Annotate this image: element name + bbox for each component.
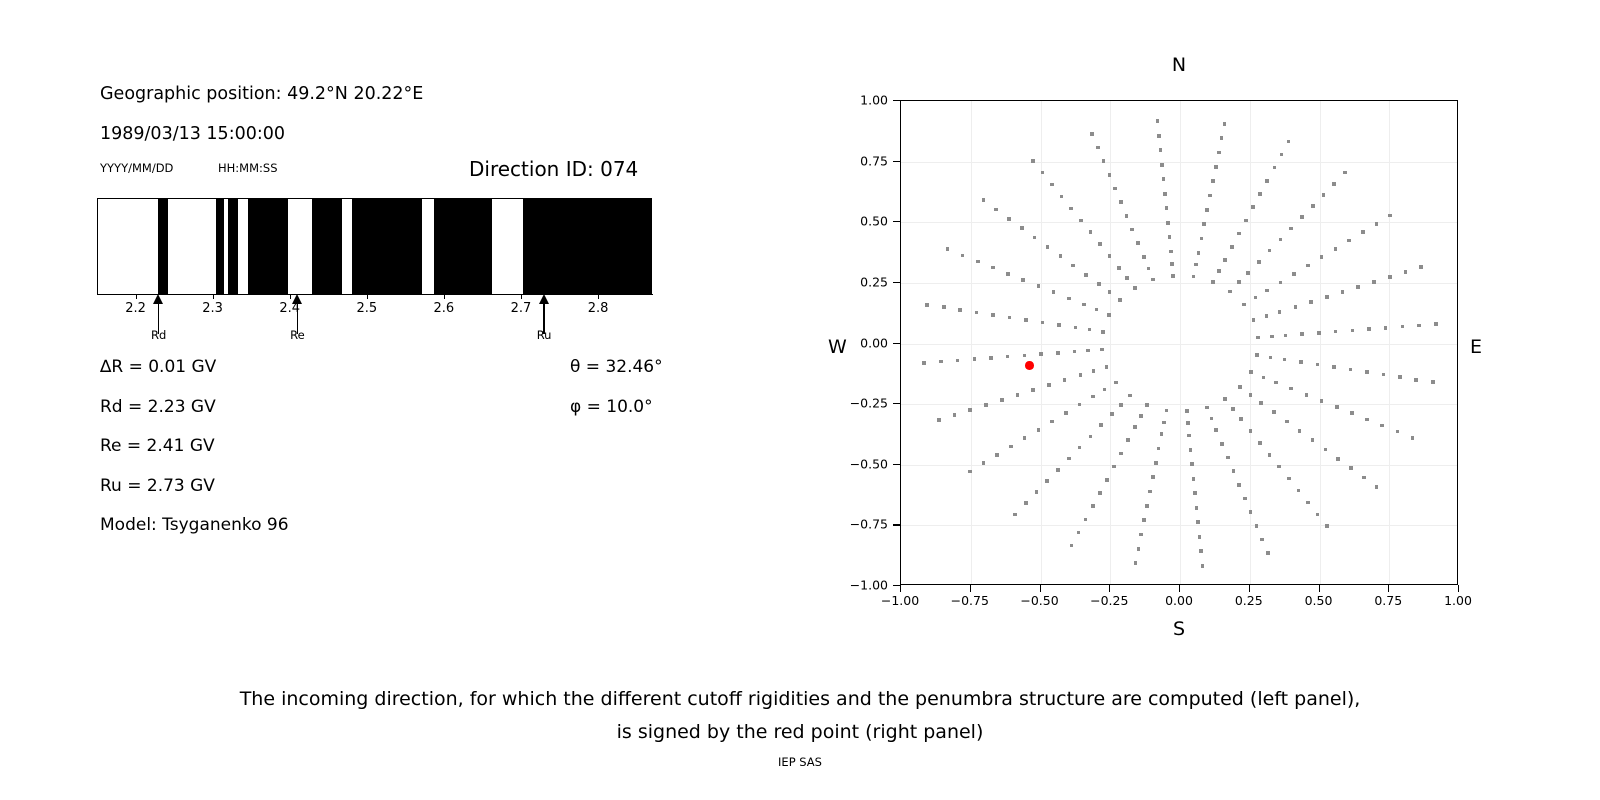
sky-map-point	[1112, 465, 1116, 469]
date-format-hint: YYYY/MM/DD	[100, 161, 173, 175]
sky-map-point	[1289, 227, 1293, 231]
gridline-vertical	[1180, 101, 1181, 584]
sky-map-point	[1349, 368, 1353, 372]
sky-map-point	[1404, 270, 1408, 274]
sky-map-point	[1260, 538, 1264, 542]
sky-map-y-tick	[893, 464, 900, 465]
sky-map-point	[1166, 221, 1170, 225]
sky-map-x-tick-label: −1.00	[881, 593, 919, 608]
sky-map-point	[1157, 134, 1161, 138]
sky-map-point	[1101, 330, 1105, 334]
sky-map-point	[1279, 238, 1283, 242]
sky-map-point	[1098, 242, 1102, 246]
sky-map-point	[1388, 275, 1392, 279]
sky-map-point	[1078, 403, 1082, 407]
sky-map-point	[1334, 330, 1338, 334]
sky-map-point	[1289, 387, 1293, 391]
sky-map-point	[1041, 171, 1045, 175]
selected-direction-marker[interactable]	[1025, 361, 1034, 370]
sky-map-point	[1100, 348, 1104, 352]
penumbra-forbidden-band	[228, 199, 238, 294]
sky-map-point	[1114, 381, 1118, 385]
sky-map-point	[1257, 260, 1261, 264]
gridline-vertical	[971, 101, 972, 584]
sky-map-point	[1151, 278, 1155, 282]
sky-map-point	[1189, 448, 1193, 452]
sky-map-point	[942, 305, 946, 309]
sky-map-point	[1097, 282, 1101, 286]
penumbra-tick	[444, 294, 445, 299]
sky-map-point	[1133, 286, 1137, 290]
sky-map-point	[1419, 265, 1423, 269]
sky-map-point	[1317, 331, 1321, 335]
sky-map-point	[1142, 518, 1146, 522]
sky-map-point	[1031, 159, 1035, 163]
sky-map-point	[1350, 411, 1354, 415]
sky-map-point	[1130, 228, 1134, 232]
sky-map-point	[1278, 310, 1282, 314]
sky-map-point	[1023, 436, 1027, 440]
caption-line-1: The incoming direction, for which the di…	[0, 683, 1600, 716]
sky-map-point	[1316, 363, 1320, 367]
compass-label-south: S	[1173, 618, 1185, 640]
sky-map-point	[1251, 205, 1255, 209]
sky-map-point	[1050, 183, 1054, 187]
sky-map-point	[1193, 491, 1197, 495]
sky-map-point	[1277, 465, 1281, 469]
sky-map-point	[1362, 476, 1366, 480]
sky-map-point	[984, 403, 988, 407]
sky-map-point	[1335, 405, 1339, 409]
sky-map-point	[1380, 424, 1384, 428]
sky-map-point	[1079, 373, 1083, 377]
sky-map-y-tick	[893, 585, 900, 586]
sky-map-x-tick-label: −0.50	[1020, 593, 1058, 608]
sky-map-point	[1089, 230, 1093, 234]
sky-map-point	[1237, 232, 1241, 236]
sky-map-point	[1223, 258, 1227, 262]
sky-map-point	[1300, 215, 1304, 219]
sky-map-point	[1170, 262, 1174, 266]
sky-map-point	[1361, 230, 1365, 234]
sky-map-point	[1237, 483, 1241, 487]
penumbra-bar	[97, 198, 652, 295]
sky-map-x-tick	[900, 585, 901, 592]
sky-map-point	[973, 357, 977, 361]
sky-map-point	[1148, 490, 1152, 494]
sky-map-point	[1024, 318, 1028, 322]
penumbra-tick-label: 2.3	[202, 301, 223, 316]
sky-map-point	[982, 198, 986, 202]
sky-map-point	[1232, 469, 1236, 473]
sky-map-y-tick-label: 0.50	[828, 214, 888, 229]
sky-map-point	[1113, 187, 1117, 191]
sky-map-x-tick	[1388, 585, 1389, 592]
sky-map-point	[1007, 217, 1011, 221]
sky-map-point	[1266, 551, 1270, 555]
sky-map-y-tick-label: 0.00	[828, 335, 888, 350]
sky-map-point	[1375, 222, 1379, 226]
sky-map-point	[1060, 195, 1064, 199]
sky-map-point	[1098, 491, 1102, 495]
sky-map-x-tick	[1458, 585, 1459, 592]
sky-map-point	[1165, 206, 1169, 210]
sky-map-point	[1169, 250, 1173, 254]
gridline-vertical	[1320, 101, 1321, 584]
sky-map-point	[1198, 535, 1202, 539]
sky-map-plot-area	[900, 100, 1458, 585]
sky-map-point	[1110, 412, 1114, 416]
sky-map-point	[1052, 290, 1056, 294]
sky-map-point	[1095, 308, 1099, 312]
penumbra-marker-label-ru: Ru	[537, 328, 552, 342]
sky-map-point	[1351, 329, 1355, 333]
sky-map-point	[1069, 207, 1073, 211]
penumbra-forbidden-band	[158, 199, 168, 294]
datetime-text: 1989/03/13 15:00:00	[100, 124, 285, 144]
sky-map-point	[1269, 356, 1273, 360]
sky-map-point	[1341, 290, 1345, 294]
sky-map-point	[1000, 398, 1004, 402]
sky-map-x-tick	[1319, 585, 1320, 592]
sky-map-point	[1396, 430, 1400, 434]
sky-map-point	[1311, 438, 1315, 442]
sky-map-y-tick	[893, 161, 900, 162]
geographic-position-text: Geographic position: 49.2°N 20.22°E	[100, 84, 423, 104]
sky-map-point	[1107, 313, 1111, 317]
penumbra-tick	[367, 294, 368, 299]
sky-map-point	[1160, 432, 1164, 436]
sky-map-point	[1154, 461, 1158, 465]
sky-map-point	[1205, 208, 1209, 212]
sky-map-point	[968, 470, 972, 474]
sky-map-point	[1156, 119, 1160, 123]
sky-map-point	[1118, 298, 1122, 302]
sky-map-y-tick-label: −0.25	[828, 396, 888, 411]
sky-map-point	[1199, 549, 1203, 553]
sky-map-point	[1186, 421, 1190, 425]
sky-map-point	[1047, 383, 1051, 387]
sky-map-x-tick-label: 0.75	[1374, 593, 1402, 608]
sky-map-point	[1037, 428, 1041, 432]
penumbra-tick	[213, 294, 214, 299]
sky-map-y-tick	[893, 403, 900, 404]
sky-map-point	[1145, 403, 1149, 407]
sky-map-y-tick-label: −0.50	[828, 456, 888, 471]
sky-map-point	[1309, 300, 1313, 304]
sky-map-point	[1151, 475, 1155, 479]
sky-map-point	[1211, 280, 1215, 284]
sky-map-y-tick-label: −1.00	[828, 578, 888, 593]
sky-map-point	[1136, 241, 1140, 245]
sky-map-point	[1305, 393, 1309, 397]
sky-map-point	[1119, 452, 1123, 456]
sky-map-point	[991, 313, 995, 317]
sky-map-point	[1057, 323, 1061, 327]
sky-map-x-tick	[1179, 585, 1180, 592]
gridline-horizontal	[901, 222, 1457, 223]
parameter-row: Ru = 2.73 GV	[100, 476, 215, 496]
sky-map-point	[1021, 278, 1025, 282]
sky-map-point	[1258, 441, 1262, 445]
sky-map-point	[1185, 409, 1189, 413]
sky-map-point	[1096, 146, 1100, 150]
sky-map-point	[1089, 435, 1093, 439]
sky-map-point	[1139, 533, 1143, 537]
sky-map-point	[1200, 237, 1204, 241]
sky-map-point	[1102, 159, 1106, 163]
sky-map-point	[1217, 269, 1221, 273]
sky-map-y-tick	[893, 524, 900, 525]
sky-map-point	[1279, 281, 1283, 285]
sky-map-point	[1142, 255, 1146, 259]
sky-map-point	[1272, 410, 1276, 414]
sky-map-point	[1347, 239, 1351, 243]
sky-map-point	[1202, 222, 1206, 226]
sky-map-point	[1056, 351, 1060, 355]
sky-map-point	[1099, 423, 1103, 427]
sky-map-point	[1237, 280, 1241, 284]
sky-map-point	[1382, 373, 1386, 377]
sky-map-point	[1417, 324, 1421, 328]
sky-map-point	[1037, 284, 1041, 288]
sky-map-point	[1287, 140, 1291, 144]
sky-map-point	[1073, 350, 1077, 354]
sky-map-point	[1035, 490, 1039, 494]
sky-map-point	[1082, 303, 1086, 307]
sky-map-point	[1223, 397, 1227, 401]
sky-map-point	[1128, 394, 1132, 398]
sky-map-point	[1298, 429, 1302, 433]
sky-map-point	[1031, 388, 1035, 392]
sky-map-point	[1084, 518, 1088, 522]
compass-label-east: E	[1470, 336, 1482, 358]
sky-map-point	[1070, 544, 1074, 548]
sky-map-point	[1059, 254, 1063, 258]
sky-map-point	[1306, 264, 1310, 268]
sky-map-point	[1009, 445, 1013, 449]
sky-map-point	[1325, 295, 1329, 299]
sky-map-point	[1297, 489, 1301, 493]
sky-map-point	[1226, 456, 1230, 460]
sky-map-point	[1252, 318, 1256, 322]
sky-map-y-tick	[893, 343, 900, 344]
sky-map-point	[1214, 165, 1218, 169]
sky-map-point	[1013, 513, 1017, 517]
sky-map-point	[1349, 466, 1353, 470]
penumbra-tick-label: 2.5	[356, 301, 377, 316]
sky-map-point	[1134, 561, 1138, 565]
sky-map-point	[1105, 365, 1109, 369]
compass-label-north: N	[1172, 54, 1186, 76]
sky-map-point	[991, 266, 995, 270]
sky-map-x-tick-label: −0.25	[1090, 593, 1128, 608]
sky-map-point	[1375, 485, 1379, 489]
sky-map-point	[1157, 447, 1161, 451]
sky-map-point	[1046, 245, 1050, 249]
penumbra-chart	[97, 198, 652, 295]
sky-map-point	[1262, 376, 1266, 380]
parameter-row: Model: Tsyganenko 96	[100, 515, 289, 535]
sky-map-x-tick-label: −0.75	[951, 593, 989, 608]
sky-map-point	[925, 303, 929, 307]
sky-map-point	[1365, 370, 1369, 374]
sky-map-point	[1006, 272, 1010, 276]
sky-map-point	[1125, 214, 1129, 218]
sky-map-point	[1165, 409, 1169, 413]
sky-map-point	[1163, 192, 1167, 196]
sky-map-point	[1211, 179, 1215, 183]
sky-map-point	[1265, 179, 1269, 183]
sky-map-point	[1056, 468, 1060, 472]
gridline-horizontal	[901, 344, 1457, 345]
sky-map-point	[1274, 381, 1278, 385]
sky-map-point	[1284, 334, 1288, 338]
sky-map-point	[946, 247, 950, 251]
penumbra-forbidden-band	[352, 199, 422, 294]
sky-map-x-tick	[970, 585, 971, 592]
sky-map-point	[939, 360, 943, 364]
sky-map-point	[1259, 401, 1263, 405]
sky-map-point	[995, 453, 999, 457]
sky-map-point	[1024, 501, 1028, 505]
parameter-row: θ = 32.46°	[570, 357, 663, 377]
penumbra-forbidden-band	[216, 199, 224, 294]
sky-map-point	[1268, 249, 1272, 253]
sky-map-point	[1092, 369, 1096, 373]
sky-map-point	[1336, 457, 1340, 461]
sky-map-point	[1091, 395, 1095, 399]
sky-map-point	[1244, 219, 1248, 223]
sky-map-point	[1205, 406, 1209, 410]
sky-map-point	[994, 208, 998, 212]
sky-map-point	[1325, 524, 1329, 528]
sky-map-point	[1045, 479, 1049, 483]
sky-map-point	[1063, 378, 1067, 382]
left-panel: Geographic position: 49.2°N 20.22°E 1989…	[0, 0, 760, 620]
sky-map-point	[1230, 245, 1234, 249]
sky-map-point	[1299, 360, 1303, 364]
direction-id-text: Direction ID: 074	[469, 157, 638, 181]
sky-map-point	[1285, 420, 1289, 424]
sky-map-y-tick	[893, 221, 900, 222]
sky-map-point	[1249, 510, 1253, 514]
sky-map-point	[1108, 254, 1112, 258]
sky-map-point	[1162, 421, 1166, 425]
caption-line-2: is signed by the red point (right panel)	[0, 716, 1600, 749]
penumbra-tick	[598, 294, 599, 299]
sky-map-point	[1208, 194, 1212, 198]
sky-map-x-tick-label: 1.00	[1444, 593, 1472, 608]
sky-map-point	[1228, 290, 1232, 294]
sky-map-point	[1016, 393, 1020, 397]
sky-map-y-tick	[893, 100, 900, 101]
sky-map-point	[1125, 276, 1129, 280]
sky-map-point	[1168, 235, 1172, 239]
sky-map-point	[1343, 171, 1347, 175]
time-format-hint: HH:MM:SS	[218, 161, 278, 175]
sky-map-point	[1084, 273, 1088, 277]
sky-map-point	[1137, 547, 1141, 551]
sky-map-point	[1238, 385, 1242, 389]
sky-map-point	[1320, 399, 1324, 403]
sky-map-point	[1255, 353, 1259, 357]
sky-map-point	[1411, 436, 1415, 440]
sky-map-point	[1067, 297, 1071, 301]
sky-map-point	[968, 408, 972, 412]
sky-map-point	[1324, 448, 1328, 452]
sky-map-point	[1192, 275, 1196, 279]
sky-map-point	[1401, 325, 1405, 329]
sky-map-point	[1077, 531, 1081, 535]
sky-map-point	[1300, 332, 1304, 336]
penumbra-tick-label: 2.2	[125, 301, 146, 316]
sky-map-point	[1268, 453, 1272, 457]
sky-map-point	[1171, 274, 1175, 278]
sky-map-point	[1079, 219, 1083, 223]
sky-map-point	[1139, 414, 1143, 418]
sky-map-point	[937, 418, 941, 422]
penumbra-forbidden-band	[312, 199, 342, 294]
sky-map-point	[1398, 375, 1402, 379]
sky-map-point	[1280, 153, 1284, 157]
sky-map-point	[1292, 272, 1296, 276]
sky-map-point	[989, 356, 993, 360]
sky-map-point	[1195, 506, 1199, 510]
penumbra-marker-label-rd: Rd	[151, 328, 166, 342]
sky-map-point	[1332, 182, 1336, 186]
parameter-row: φ = 10.0°	[570, 397, 653, 417]
sky-map-point	[1220, 136, 1224, 140]
sky-map-point	[1119, 200, 1123, 204]
sky-map-point	[1249, 370, 1253, 374]
sky-map-point	[1249, 429, 1253, 433]
sky-map-point	[961, 254, 965, 258]
sky-map-point	[1320, 255, 1324, 259]
sky-map-point	[1103, 388, 1107, 392]
sky-map-x-tick-label: 0.50	[1305, 593, 1333, 608]
sky-map-y-tick	[893, 282, 900, 283]
penumbra-tick	[136, 294, 137, 299]
sky-map-point	[1041, 321, 1045, 325]
sky-map-point	[1071, 264, 1075, 268]
sky-map-y-tick-label: 1.00	[828, 93, 888, 108]
sky-map-point	[1255, 524, 1259, 528]
sky-map-point	[975, 311, 979, 315]
gridline-vertical	[1389, 101, 1390, 584]
sky-map-point	[1294, 305, 1298, 309]
sky-map-point	[1265, 314, 1269, 318]
sky-map-point	[1388, 214, 1392, 218]
sky-map-point	[1108, 173, 1112, 177]
sky-map-point	[1256, 336, 1260, 340]
right-panel: N S W E −1.00−0.75−0.50−0.250.000.250.50…	[820, 40, 1520, 660]
penumbra-forbidden-band	[248, 199, 288, 294]
sky-map-point	[1334, 247, 1338, 251]
sky-map-point	[1265, 289, 1269, 293]
sky-map-point	[982, 461, 986, 465]
sky-map-point	[1254, 296, 1258, 300]
gridline-horizontal	[901, 525, 1457, 526]
sky-map-point	[1159, 148, 1163, 152]
sky-map-point	[1414, 378, 1418, 382]
sky-map-point	[1372, 280, 1376, 284]
sky-map-point	[1008, 316, 1012, 320]
sky-map-point	[1249, 393, 1253, 397]
sky-map-point	[1356, 285, 1360, 289]
sky-map-point	[1231, 407, 1235, 411]
penumbra-forbidden-band	[434, 199, 492, 294]
